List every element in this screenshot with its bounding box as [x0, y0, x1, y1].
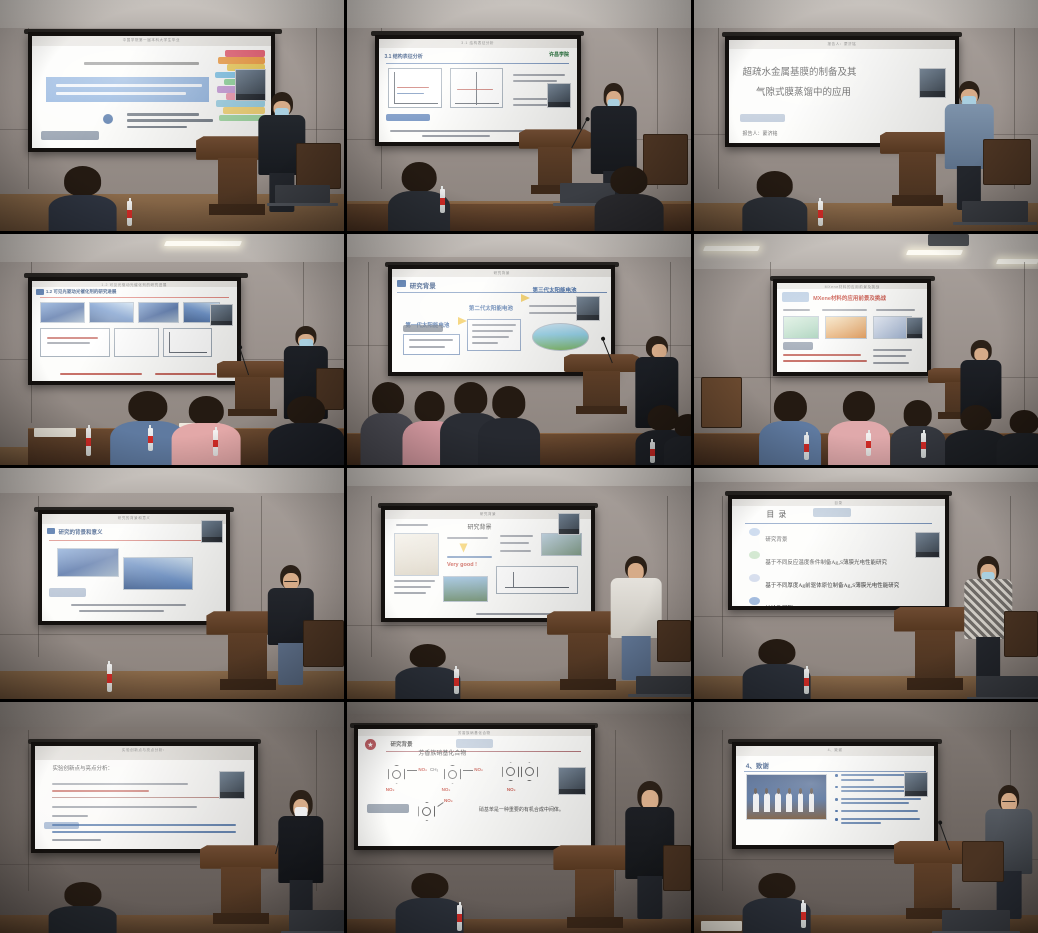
presenter — [608, 556, 663, 681]
benzene-ring — [388, 765, 405, 784]
slide-title: 研究背景 — [390, 740, 412, 748]
figure-panel — [138, 302, 179, 323]
audience-member — [890, 400, 945, 465]
figure-panel — [40, 302, 85, 323]
benzene-ring — [444, 765, 461, 784]
papers — [34, 428, 75, 437]
podium — [894, 841, 973, 920]
slide-heading: 芳香族硝基化合物 — [418, 748, 466, 757]
slide-author-block — [127, 112, 242, 134]
chair — [1004, 611, 1038, 657]
slide-title: 实验创新点与亮点分析： — [52, 764, 113, 772]
chair — [663, 845, 691, 891]
water-bottle — [86, 428, 91, 456]
water-bottle — [921, 433, 926, 458]
sweatshirt — [611, 578, 662, 638]
org-logo: 许昌学院 — [549, 51, 569, 58]
projection-screen: 4、致谢 4、致谢 — [732, 742, 938, 848]
projection-screen: 中国学院第一届本科大学生毕业 — [28, 32, 276, 152]
solar-farm-photo-2 — [123, 557, 193, 590]
figure-plot-2 — [450, 68, 504, 107]
audience-member — [759, 391, 821, 465]
laptop — [636, 676, 691, 694]
audience-member — [828, 391, 890, 465]
figure-plot — [114, 328, 159, 356]
screen-watermark: 研究的背景和意义 — [118, 516, 151, 521]
papers — [701, 921, 742, 930]
water-bottle — [213, 430, 218, 455]
collage-cell-12[interactable]: 4、致谢 4、致谢 — [694, 702, 1038, 933]
water-bottle — [127, 201, 132, 226]
audience-member — [595, 166, 664, 231]
slide-title: 研究的背景和意义 — [58, 528, 102, 536]
toc-item: 基于不同反应温度条件制备Ag₂S薄膜光电性能研究 — [749, 551, 931, 569]
audience-member — [742, 171, 807, 231]
water-bottle — [818, 201, 823, 226]
audience-member — [395, 873, 464, 933]
audience-member — [48, 882, 117, 933]
toc-list: 研究背景 基于不同反应温度条件制备Ag₂S薄膜光电性能研究 基于不同厚度Ag前驱… — [749, 528, 931, 606]
screen-watermark: 研究背景 — [494, 271, 510, 276]
slide-highlight: Very good ! — [447, 562, 477, 568]
presenter — [275, 790, 327, 919]
projection-screen: 研究的背景和意义 研究的背景和意义 — [38, 510, 231, 626]
video-pip — [906, 317, 923, 339]
slide-title: MXene材料的应用前景及挑战 — [813, 294, 886, 302]
audience-member — [395, 644, 460, 699]
audience-member — [663, 414, 691, 465]
slide-corner-badge — [41, 131, 99, 140]
video-pip — [576, 296, 600, 321]
projection-screen: 1.2 可见光驱动光催化剂的研究进展 1.2 可见光驱动光催化剂的研究进展 — [28, 277, 241, 386]
water-bottle — [650, 442, 655, 463]
figure-panel — [89, 302, 134, 323]
audience-member — [742, 639, 811, 699]
water-bottle — [866, 433, 871, 456]
ceiling — [0, 0, 344, 30]
water-bottle — [107, 664, 112, 692]
podium — [200, 845, 283, 924]
benzene-ring — [418, 802, 435, 821]
video-pip — [219, 771, 245, 800]
gen3-heading: 第三代太阳能电池 — [532, 286, 576, 294]
chair — [303, 620, 344, 666]
glasses-icon — [284, 581, 297, 583]
slide-title-line2: 气隙式膜蒸馏中的应用 — [756, 86, 928, 100]
video-pip — [201, 520, 223, 543]
slide-title: 4、致谢 — [746, 760, 769, 770]
water-bottle — [804, 669, 809, 694]
naphthalene-ring — [502, 762, 519, 781]
audience-member — [172, 396, 241, 465]
collage-cell-11[interactable]: 芳香族硝基化合物 ★ 研究背景 芳香族硝基化合物 NO₂ NO₂ CH₃ NO₂… — [347, 702, 691, 933]
screen-watermark: 3.1 结构表征分析 — [461, 41, 494, 46]
figure-plot — [40, 328, 110, 356]
projection-screen: MXene材料的应用前景及挑战 MXene材料的应用前景及挑战 — [773, 279, 931, 376]
slide-event-line — [84, 62, 199, 65]
ceiling-projector — [928, 234, 969, 246]
video-pip — [558, 513, 581, 535]
video-pip — [558, 767, 586, 796]
collage-cell-10[interactable]: 实验创新点与亮点分析： 实验创新点与亮点分析： — [0, 702, 344, 933]
collage-cell-1[interactable]: 中国学院第一届本科大学生毕业 — [0, 0, 344, 231]
gen1-box — [403, 334, 460, 355]
collage-cell-5[interactable]: 研究背景 研究背景 第一代太阳能电池 第二代太阳能电池 — [347, 234, 691, 465]
illustration-panel — [394, 533, 439, 577]
water-bottle — [454, 669, 459, 694]
university-seal — [103, 114, 113, 124]
audience-member — [268, 396, 344, 465]
slide-title: 研究背景 — [410, 280, 436, 290]
slide-content — [32, 46, 272, 148]
figure-plot — [163, 328, 212, 356]
screen-watermark: 报告人：蒙济铭 — [828, 42, 857, 47]
bullet-icon — [749, 597, 760, 605]
projection-screen: 研究背景 研究背景 Very good ! — [381, 506, 594, 622]
water-bottle — [804, 435, 809, 460]
collage-cell-7[interactable]: 研究的背景和意义 研究的背景和意义 — [0, 468, 344, 699]
slide-title: 1.2 可见光驱动光催化剂的研究进展 — [46, 289, 117, 295]
gen2-heading: 第二代太阳能电池 — [469, 304, 513, 312]
slide-title: 3.1 结构表征分析 — [384, 53, 422, 60]
glasses-icon — [1002, 801, 1015, 803]
screen-watermark: 中国学院第一届本科大学生毕业 — [123, 38, 180, 43]
video-pip — [915, 532, 940, 558]
figure-panel — [825, 316, 867, 339]
slide-title-line1: 超疏水金属基膜的制备及其 — [743, 66, 928, 80]
chair — [296, 143, 341, 189]
collage-cell-9[interactable]: 目录 目录 研究背景 基于不同反应温度条件制备Ag₂S薄膜光电性能研究 — [694, 468, 1038, 699]
slide-caption: 硝基苯是一种重要的有机合成中间体。 — [479, 806, 564, 813]
toc-item: 研究背景 — [749, 528, 931, 546]
water-bottle — [440, 189, 445, 212]
projection-screen: 目录 目录 研究背景 基于不同反应温度条件制备Ag₂S薄膜光电性能研究 — [728, 495, 948, 611]
chair — [657, 620, 691, 662]
collage-cell-8[interactable]: 研究背景 研究背景 Very good ! — [347, 468, 691, 699]
audience-member — [48, 166, 117, 231]
audience-member — [478, 386, 540, 465]
toc-item: 基于不同厚度Ag前驱体原位制备Ag₂S薄膜光电性能研究 — [749, 574, 931, 592]
slide-title: 研究背景 — [467, 522, 491, 531]
screen-watermark: 研究背景 — [480, 512, 496, 517]
slide-author: 报告人：蒙济铭 — [743, 130, 778, 137]
slide-title-banner — [46, 77, 209, 101]
collage-cell-2[interactable]: 3.1 结构表征分析 3.1 结构表征分析 许昌学院 — [347, 0, 691, 231]
slide-title: 目录 — [766, 509, 790, 520]
projection-screen: 芳香族硝基化合物 ★ 研究背景 芳香族硝基化合物 NO₂ NO₂ CH₃ NO₂… — [354, 725, 595, 850]
chair — [962, 841, 1003, 883]
figure-photo — [443, 576, 488, 602]
chair — [983, 139, 1031, 185]
projection-screen: 实验创新点与亮点分析： 实验创新点与亮点分析： — [31, 742, 258, 853]
solar-farm-photo-1 — [57, 548, 120, 577]
laptop — [275, 185, 330, 203]
water-bottle — [457, 905, 462, 930]
laptop — [289, 910, 344, 931]
laptop — [976, 676, 1038, 697]
bullet-icon — [749, 551, 760, 559]
collage-cell-3[interactable]: 报告人：蒙济铭 超疏水金属基膜的制备及其 气隙式膜蒸馏中的应用 报告人：蒙济铭 — [694, 0, 1038, 231]
laptop — [962, 201, 1027, 222]
toc-item: 结论及展望 — [749, 597, 931, 606]
screen-watermark: 目录 — [834, 501, 842, 506]
video-pip — [904, 772, 928, 797]
screen-watermark: 4、致谢 — [828, 748, 843, 753]
bullet-icon — [749, 574, 760, 582]
photo-collage-grid: 中国学院第一届本科大学生毕业 — [0, 0, 1038, 932]
video-pip — [210, 304, 233, 327]
figure-panel — [783, 316, 819, 339]
laptop — [942, 910, 1011, 931]
projection-screen: 报告人：蒙济铭 超疏水金属基膜的制备及其 气隙式膜蒸馏中的应用 报告人：蒙济铭 — [725, 36, 959, 147]
figure-photo — [541, 533, 582, 557]
podium — [564, 354, 640, 414]
collage-cell-6[interactable]: MXene材料的应用前景及挑战 MXene材料的应用前景及挑战 — [694, 234, 1038, 465]
chair — [701, 377, 742, 428]
water-bottle — [148, 428, 153, 451]
process-flow-diagram — [496, 566, 578, 594]
bullet-icon — [749, 528, 760, 536]
screen-watermark: 实验创新点与亮点分析： — [122, 748, 167, 753]
collage-cell-4[interactable]: 1.2 可见光驱动光催化剂的研究进展 1.2 可见光驱动光催化剂的研究进展 — [0, 234, 344, 465]
audience-member — [997, 410, 1038, 465]
video-pip — [547, 83, 571, 107]
gen2-box — [467, 319, 522, 351]
group-photo — [746, 774, 827, 820]
university-star-logo: ★ — [365, 739, 376, 750]
water-bottle — [801, 903, 806, 928]
figure-plot-1 — [388, 68, 442, 107]
naphthalene-ring — [521, 762, 538, 781]
solar-farm-illustration — [532, 323, 589, 351]
